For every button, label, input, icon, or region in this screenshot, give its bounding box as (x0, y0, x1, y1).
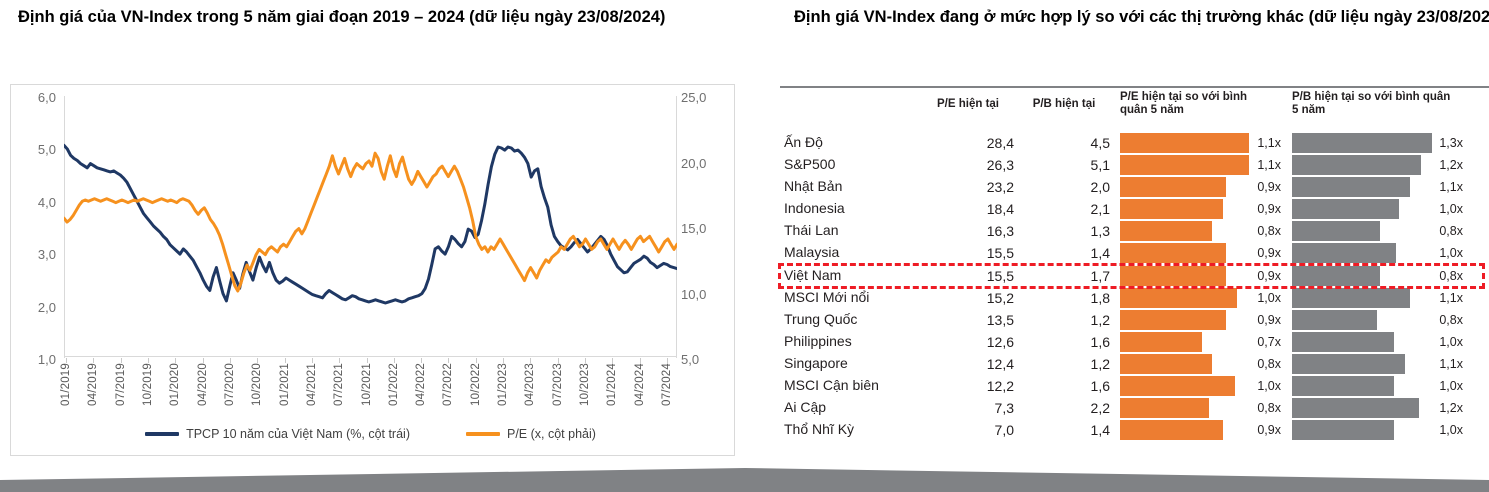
x-label-18: 07/2023 (552, 363, 564, 406)
cell-pe: 15,2 (922, 290, 1014, 306)
table-body: Ấn Độ28,44,51,1x1,3xS&P50026,35,11,1x1,2… (780, 132, 1489, 441)
y-tick-right-1: 20,0 (681, 158, 731, 224)
bar-pb (1292, 376, 1394, 396)
bar-pb (1292, 288, 1410, 308)
chart-legend: TPCP 10 năm của Việt Nam (%, cột trái)P/… (64, 422, 677, 446)
x-label-16: 01/2023 (497, 363, 509, 406)
column-header-pb-vs-avg: P/B hiện tại so với bình quân 5 năm (1292, 91, 1452, 117)
cell-market: MSCI Mới nổi (784, 289, 869, 305)
bar-pe (1120, 398, 1209, 418)
cell-pb: 2,2 (1018, 400, 1110, 416)
bar-label-pe: 0,9x (1257, 313, 1281, 327)
cell-pe-vs-avg-bar: 1,1x (1120, 133, 1285, 153)
cell-pe-vs-avg-bar: 0,7x (1120, 332, 1285, 352)
x-label-15: 10/2022 (470, 363, 482, 406)
y-tick-left-5: 1,0 (4, 354, 56, 406)
cell-pb: 1,2 (1018, 356, 1110, 372)
cell-pb: 1,4 (1018, 422, 1110, 438)
table-row[interactable]: Philippines12,61,60,7x1,0x (780, 331, 1489, 353)
cell-pb-vs-avg-bar: 1,0x (1292, 199, 1465, 219)
legend-swatch-1 (466, 432, 500, 436)
cell-pe: 28,4 (922, 135, 1014, 151)
cell-pb-vs-avg-bar: 0,8x (1292, 221, 1465, 241)
x-label-8: 01/2021 (279, 363, 291, 406)
bar-pe (1120, 310, 1226, 330)
cell-pb-vs-avg-bar: 1,1x (1292, 288, 1465, 308)
cell-pe-vs-avg-bar: 1,0x (1120, 376, 1285, 396)
cell-pb: 4,5 (1018, 135, 1110, 151)
cell-market: Singapore (784, 355, 848, 371)
table-row[interactable]: Việt Nam15,51,70,9x0,8x (780, 265, 1489, 287)
x-label-12: 01/2022 (388, 363, 400, 406)
bar-label-pe: 0,8x (1257, 357, 1281, 371)
bar-pe (1120, 199, 1223, 219)
cell-pe-vs-avg-bar: 0,9x (1120, 266, 1285, 286)
right-table-panel: Định giá VN-Index đang ở mức hợp lý so v… (780, 0, 1489, 492)
line-chart-plot (64, 96, 677, 356)
legend-label-1: P/E (x, cột phải) (507, 427, 596, 441)
bar-label-pb: 0,8x (1439, 224, 1463, 238)
line-series-pe (64, 153, 677, 291)
y-axis-left: 6,05,04,03,02,01,0 (4, 92, 56, 406)
x-label-13: 04/2022 (415, 363, 427, 406)
bar-pe (1120, 221, 1212, 241)
bar-pb (1292, 354, 1405, 374)
bar-label-pe: 0,9x (1257, 246, 1281, 260)
bar-pb (1292, 266, 1380, 286)
cell-pe: 16,3 (922, 223, 1014, 239)
table-row[interactable]: Thổ Nhĩ Kỳ7,01,40,9x1,0x (780, 419, 1489, 441)
bar-label-pb: 1,2x (1439, 401, 1463, 415)
x-label-5: 04/2020 (197, 363, 209, 406)
bottom-banner (0, 464, 1489, 492)
bar-label-pb: 1,1x (1439, 291, 1463, 305)
cell-pb-vs-avg-bar: 1,1x (1292, 354, 1465, 374)
cell-market: Philippines (784, 333, 852, 349)
bar-pe (1120, 354, 1212, 374)
x-label-14: 07/2022 (442, 363, 454, 406)
table-row[interactable]: S&P50026,35,11,1x1,2x (780, 154, 1489, 176)
bar-pb (1292, 155, 1421, 175)
cell-pe: 12,4 (922, 356, 1014, 372)
axis-line-bottom (64, 356, 677, 357)
left-chart-panel: Định giá của VN-Index trong 5 năm giai đ… (0, 0, 748, 492)
cell-pb-vs-avg-bar: 1,2x (1292, 155, 1465, 175)
cell-pb: 1,6 (1018, 378, 1110, 394)
bar-label-pb: 1,0x (1439, 379, 1463, 393)
cell-pb: 1,3 (1018, 223, 1110, 239)
table-top-rule (780, 86, 1489, 88)
cell-pe-vs-avg-bar: 0,8x (1120, 354, 1285, 374)
bar-label-pe: 0,9x (1257, 180, 1281, 194)
y-tick-left-3: 3,0 (4, 249, 56, 301)
y-tick-left-0: 6,0 (4, 92, 56, 144)
cell-market: Indonesia (784, 200, 845, 216)
table-header-row: P/E hiện tại P/B hiện tại P/E hiện tại s… (780, 90, 1489, 132)
cell-market: Việt Nam (784, 267, 841, 283)
cell-pe-vs-avg-bar: 0,9x (1120, 199, 1285, 219)
cell-pb: 1,4 (1018, 245, 1110, 261)
bar-label-pb: 1,3x (1439, 136, 1463, 150)
cell-pb: 1,7 (1018, 268, 1110, 284)
bar-label-pe: 0,9x (1257, 202, 1281, 216)
bar-label-pe: 1,1x (1257, 158, 1281, 172)
banner-triangle-shape (0, 464, 1489, 492)
bar-pe (1120, 155, 1249, 175)
y-tick-left-2: 4,0 (4, 197, 56, 249)
cell-pe: 12,2 (922, 378, 1014, 394)
cell-market: S&P500 (784, 156, 835, 172)
bar-pb (1292, 310, 1377, 330)
column-header-pe: P/E hiện tại (922, 98, 1014, 111)
cell-market: Ấn Độ (784, 134, 823, 150)
cell-pb-vs-avg-bar: 1,0x (1292, 420, 1465, 440)
bar-label-pb: 0,8x (1439, 313, 1463, 327)
cell-pb-vs-avg-bar: 1,0x (1292, 332, 1465, 352)
bar-pe (1120, 332, 1202, 352)
line-series-bond-yield (64, 145, 677, 303)
bar-pb (1292, 332, 1394, 352)
x-label-6: 07/2020 (224, 363, 236, 406)
x-label-17: 04/2023 (524, 363, 536, 406)
bar-label-pe: 0,8x (1257, 401, 1281, 415)
bar-pe (1120, 376, 1235, 396)
cell-pe: 7,3 (922, 400, 1014, 416)
bar-pe (1120, 243, 1226, 263)
cell-pe: 15,5 (922, 245, 1014, 261)
table-row[interactable]: MSCI Cận biên12,21,61,0x1,0x (780, 375, 1489, 397)
bar-pe (1120, 266, 1226, 286)
legend-item-0: TPCP 10 năm của Việt Nam (%, cột trái) (145, 427, 410, 441)
cell-pb-vs-avg-bar: 1,2x (1292, 398, 1465, 418)
valuation-table: P/E hiện tại P/B hiện tại P/E hiện tại s… (780, 90, 1489, 441)
cell-pb: 1,8 (1018, 290, 1110, 306)
cell-market: Thổ Nhĩ Kỳ (784, 421, 854, 437)
bar-label-pe: 0,9x (1257, 269, 1281, 283)
right-table-title: Định giá VN-Index đang ở mức hợp lý so v… (794, 6, 1489, 28)
x-label-7: 10/2020 (251, 363, 263, 406)
cell-pb: 2,0 (1018, 179, 1110, 195)
bar-label-pb: 1,1x (1439, 180, 1463, 194)
y-tick-right-4: 5,0 (681, 354, 731, 420)
bar-pe (1120, 288, 1237, 308)
bar-label-pe: 0,9x (1257, 423, 1281, 437)
y-tick-right-3: 10,0 (681, 289, 731, 355)
y-axis-right: 25,020,015,010,05,0 (681, 92, 731, 420)
bar-label-pb: 0,8x (1439, 269, 1463, 283)
bar-label-pb: 1,0x (1439, 335, 1463, 349)
cell-pb-vs-avg-bar: 1,3x (1292, 133, 1465, 153)
x-label-20: 01/2024 (606, 363, 618, 406)
bar-label-pb: 1,0x (1439, 423, 1463, 437)
x-label-1: 04/2019 (87, 363, 99, 406)
x-label-11: 10/2021 (361, 363, 373, 406)
bar-pb (1292, 221, 1380, 241)
cell-pb: 1,2 (1018, 312, 1110, 328)
x-label-9: 04/2021 (306, 363, 318, 406)
table-row[interactable]: Thái Lan16,31,30,8x0,8x (780, 220, 1489, 242)
cell-pe: 15,5 (922, 268, 1014, 284)
table-row[interactable]: Singapore12,41,20,8x1,1x (780, 353, 1489, 375)
bar-label-pb: 1,0x (1439, 202, 1463, 216)
bar-pe (1120, 177, 1226, 197)
bar-label-pe: 1,1x (1257, 136, 1281, 150)
cell-pe-vs-avg-bar: 1,0x (1120, 288, 1285, 308)
table-row[interactable]: Ai Cập7,32,20,8x1,2x (780, 397, 1489, 419)
cell-market: MSCI Cận biên (784, 377, 879, 393)
cell-market: Thái Lan (784, 222, 838, 238)
bar-pb (1292, 420, 1394, 440)
cell-pb-vs-avg-bar: 0,8x (1292, 266, 1465, 286)
y-tick-left-1: 5,0 (4, 144, 56, 196)
left-chart-title: Định giá của VN-Index trong 5 năm giai đ… (18, 6, 738, 28)
cell-pe-vs-avg-bar: 0,9x (1120, 177, 1285, 197)
bar-label-pe: 1,0x (1257, 379, 1281, 393)
x-label-21: 04/2024 (634, 363, 646, 406)
table-row[interactable]: Ấn Độ28,44,51,1x1,3x (780, 132, 1489, 154)
cell-market: Malaysia (784, 244, 839, 260)
y-tick-right-0: 25,0 (681, 92, 731, 158)
x-label-0: 01/2019 (60, 363, 72, 406)
y-tick-left-4: 2,0 (4, 302, 56, 354)
table-row[interactable]: Malaysia15,51,40,9x1,0x (780, 242, 1489, 264)
cell-pe: 12,6 (922, 334, 1014, 350)
bar-pb (1292, 199, 1399, 219)
cell-pb-vs-avg-bar: 1,0x (1292, 376, 1465, 396)
x-label-22: 07/2024 (661, 363, 673, 406)
x-label-2: 07/2019 (115, 363, 127, 406)
table-row[interactable]: Nhật Bản23,22,00,9x1,1x (780, 176, 1489, 198)
x-label-3: 10/2019 (142, 363, 154, 406)
cell-pb-vs-avg-bar: 0,8x (1292, 310, 1465, 330)
bar-pb (1292, 133, 1432, 153)
bar-pb (1292, 243, 1396, 263)
cell-pe-vs-avg-bar: 0,9x (1120, 310, 1285, 330)
x-label-4: 01/2020 (169, 363, 181, 406)
y-tick-right-2: 15,0 (681, 223, 731, 289)
bar-label-pb: 1,1x (1439, 357, 1463, 371)
bar-label-pb: 1,2x (1439, 158, 1463, 172)
bar-pb (1292, 177, 1410, 197)
table-row[interactable]: MSCI Mới nổi15,21,81,0x1,1x (780, 287, 1489, 309)
cell-pe: 26,3 (922, 157, 1014, 173)
bar-pe (1120, 420, 1223, 440)
bar-label-pe: 0,7x (1257, 335, 1281, 349)
bar-label-pe: 0,8x (1257, 224, 1281, 238)
x-label-19: 10/2023 (579, 363, 591, 406)
cell-pb: 5,1 (1018, 157, 1110, 173)
cell-pe: 23,2 (922, 179, 1014, 195)
cell-pe: 13,5 (922, 312, 1014, 328)
bar-pb (1292, 398, 1419, 418)
cell-pe-vs-avg-bar: 0,8x (1120, 221, 1285, 241)
cell-pe: 7,0 (922, 422, 1014, 438)
cell-pe-vs-avg-bar: 0,9x (1120, 243, 1285, 263)
x-label-10: 07/2021 (333, 363, 345, 406)
x-axis-labels: 01/201904/201907/201910/201901/202004/20… (64, 363, 677, 423)
cell-pb: 1,6 (1018, 334, 1110, 350)
column-header-pb: P/B hiện tại (1018, 98, 1110, 111)
bar-label-pe: 1,0x (1257, 291, 1281, 305)
cell-pe-vs-avg-bar: 1,1x (1120, 155, 1285, 175)
bar-pe (1120, 133, 1249, 153)
cell-market: Ai Cập (784, 399, 826, 415)
cell-pe-vs-avg-bar: 0,8x (1120, 398, 1285, 418)
legend-item-1: P/E (x, cột phải) (466, 427, 596, 441)
cell-pe: 18,4 (922, 201, 1014, 217)
table-row[interactable]: Trung Quốc13,51,20,9x0,8x (780, 309, 1489, 331)
bar-label-pb: 1,0x (1439, 246, 1463, 260)
cell-pe-vs-avg-bar: 0,9x (1120, 420, 1285, 440)
cell-pb-vs-avg-bar: 1,0x (1292, 243, 1465, 263)
legend-swatch-0 (145, 432, 179, 436)
legend-label-0: TPCP 10 năm của Việt Nam (%, cột trái) (186, 427, 410, 441)
cell-market: Trung Quốc (784, 311, 857, 327)
cell-market: Nhật Bản (784, 178, 842, 194)
column-header-pe-vs-avg: P/E hiện tại so với bình quân 5 năm (1120, 91, 1272, 117)
table-row[interactable]: Indonesia18,42,10,9x1,0x (780, 198, 1489, 220)
cell-pb-vs-avg-bar: 1,1x (1292, 177, 1465, 197)
cell-pb: 2,1 (1018, 201, 1110, 217)
